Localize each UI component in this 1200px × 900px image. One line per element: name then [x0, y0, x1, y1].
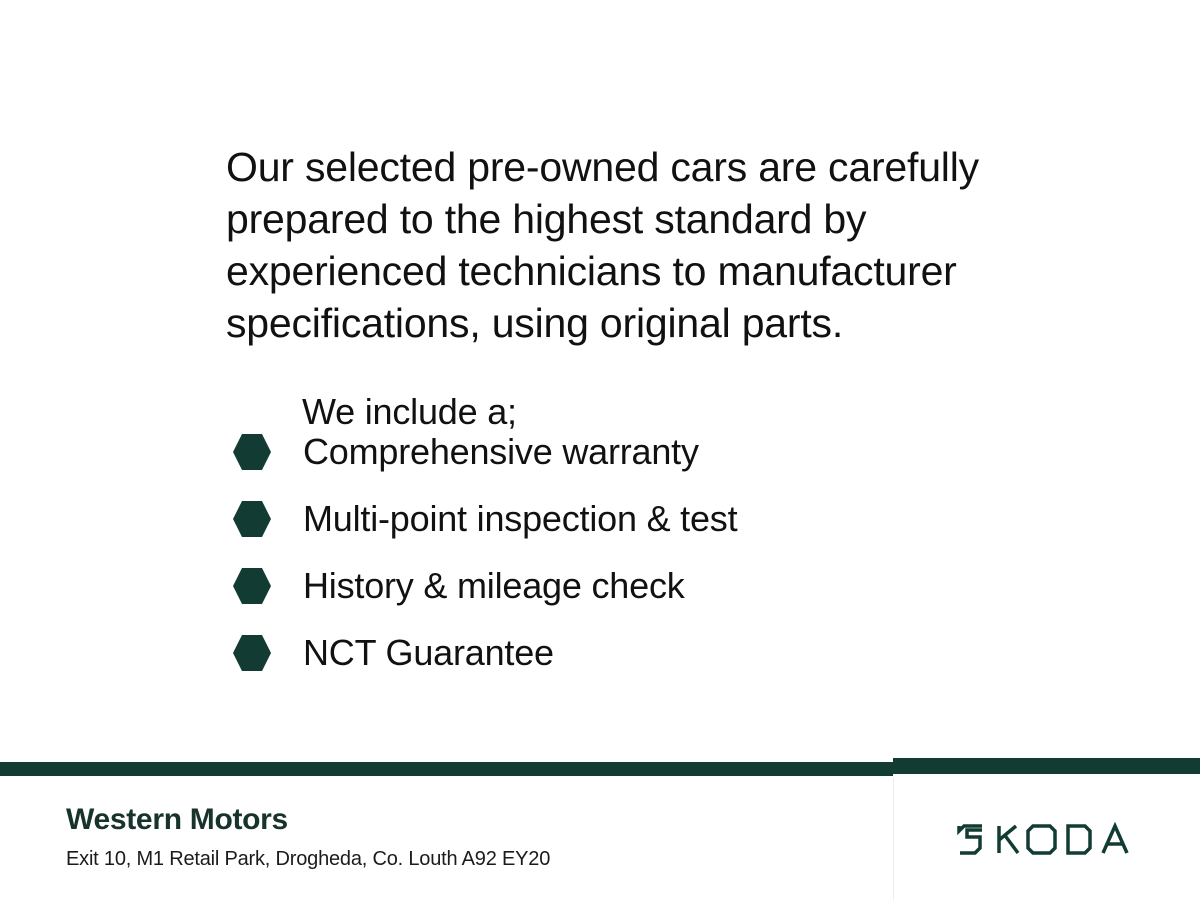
footer: Western Motors Exit 10, M1 Retail Park, … [0, 756, 1200, 900]
list-item: NCT Guarantee [232, 619, 1032, 686]
advert-slide: Our selected pre-owned cars are carefull… [0, 0, 1200, 900]
hexagon-bullet-icon [232, 567, 272, 605]
intro-paragraph: Our selected pre-owned cars are carefull… [226, 141, 1016, 349]
list-item-label: History & mileage check [303, 564, 685, 608]
list-item-label: Comprehensive warranty [303, 430, 699, 474]
list-item: History & mileage check [232, 552, 1032, 619]
hexagon-bullet-icon [232, 500, 272, 538]
benefits-list: Comprehensive warranty Multi-point inspe… [232, 418, 1032, 686]
list-item: Comprehensive warranty [232, 418, 1032, 485]
main-content: Our selected pre-owned cars are carefull… [0, 0, 1200, 756]
dealer-info: Western Motors Exit 10, M1 Retail Park, … [66, 802, 550, 872]
dealer-address: Exit 10, M1 Retail Park, Drogheda, Co. L… [66, 847, 550, 872]
list-item: Multi-point inspection & test [232, 485, 1032, 552]
footer-accent-bar-left [0, 762, 893, 776]
list-item-label: Multi-point inspection & test [303, 497, 737, 541]
footer-accent-bar-right [893, 758, 1200, 774]
brand-logo-panel [893, 778, 1200, 900]
hexagon-bullet-icon [232, 433, 272, 471]
skoda-wordmark-logo [957, 822, 1137, 856]
dealer-name: Western Motors [66, 802, 550, 838]
hexagon-bullet-icon [232, 634, 272, 672]
list-item-label: NCT Guarantee [303, 631, 554, 675]
